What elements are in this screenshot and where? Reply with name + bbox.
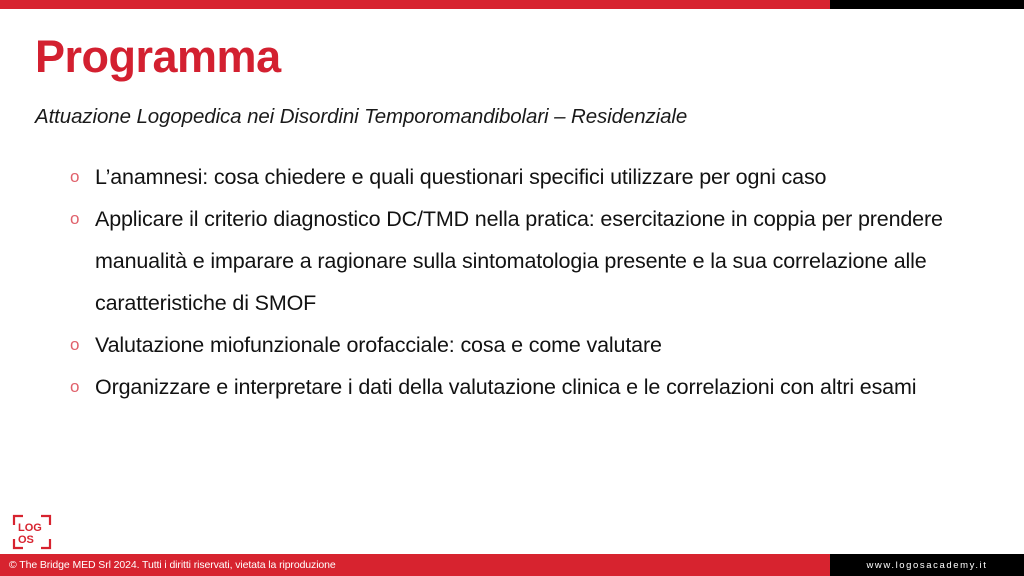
slide: Programma Attuazione Logopedica nei Diso… (0, 0, 1024, 576)
bullet-circle-icon: o (62, 198, 95, 240)
copyright-text: © The Bridge MED Srl 2024. Tutti i dirit… (9, 559, 336, 571)
top-accent-bar (0, 0, 1024, 9)
bullet-circle-icon: o (62, 366, 95, 408)
list-item-text: Valutazione miofunzionale orofacciale: c… (95, 324, 992, 366)
list-item: o L’anamnesi: cosa chiedere e quali ques… (62, 156, 992, 198)
top-accent-bar-red (0, 0, 830, 9)
top-accent-bar-black (830, 0, 1024, 9)
list-item: o Valutazione miofunzionale orofacciale:… (62, 324, 992, 366)
list-item-text: Applicare il criterio diagnostico DC/TMD… (95, 198, 992, 324)
website-url: www.logosacademy.it (866, 560, 987, 571)
list-item: o Applicare il criterio diagnostico DC/T… (62, 198, 992, 324)
list-item: o Organizzare e interpretare i dati dell… (62, 366, 992, 408)
program-bullet-list: o L’anamnesi: cosa chiedere e quali ques… (62, 156, 992, 408)
bullet-circle-icon: o (62, 324, 95, 366)
list-item-text: L’anamnesi: cosa chiedere e quali questi… (95, 156, 992, 198)
page-subtitle: Attuazione Logopedica nei Disordini Temp… (35, 105, 687, 129)
footer-copyright-area: © The Bridge MED Srl 2024. Tutti i dirit… (0, 554, 830, 576)
footer-website-area: www.logosacademy.it (830, 554, 1024, 576)
page-title: Programma (35, 33, 281, 80)
bullet-circle-icon: o (62, 156, 95, 198)
list-item-text: Organizzare e interpretare i dati della … (95, 366, 992, 408)
footer-bar: © The Bridge MED Srl 2024. Tutti i dirit… (0, 554, 1024, 576)
logo-line-2: OS (18, 534, 34, 546)
logos-logo-icon: LOG OS (12, 514, 52, 550)
logo-line-1: LOG (18, 522, 42, 534)
